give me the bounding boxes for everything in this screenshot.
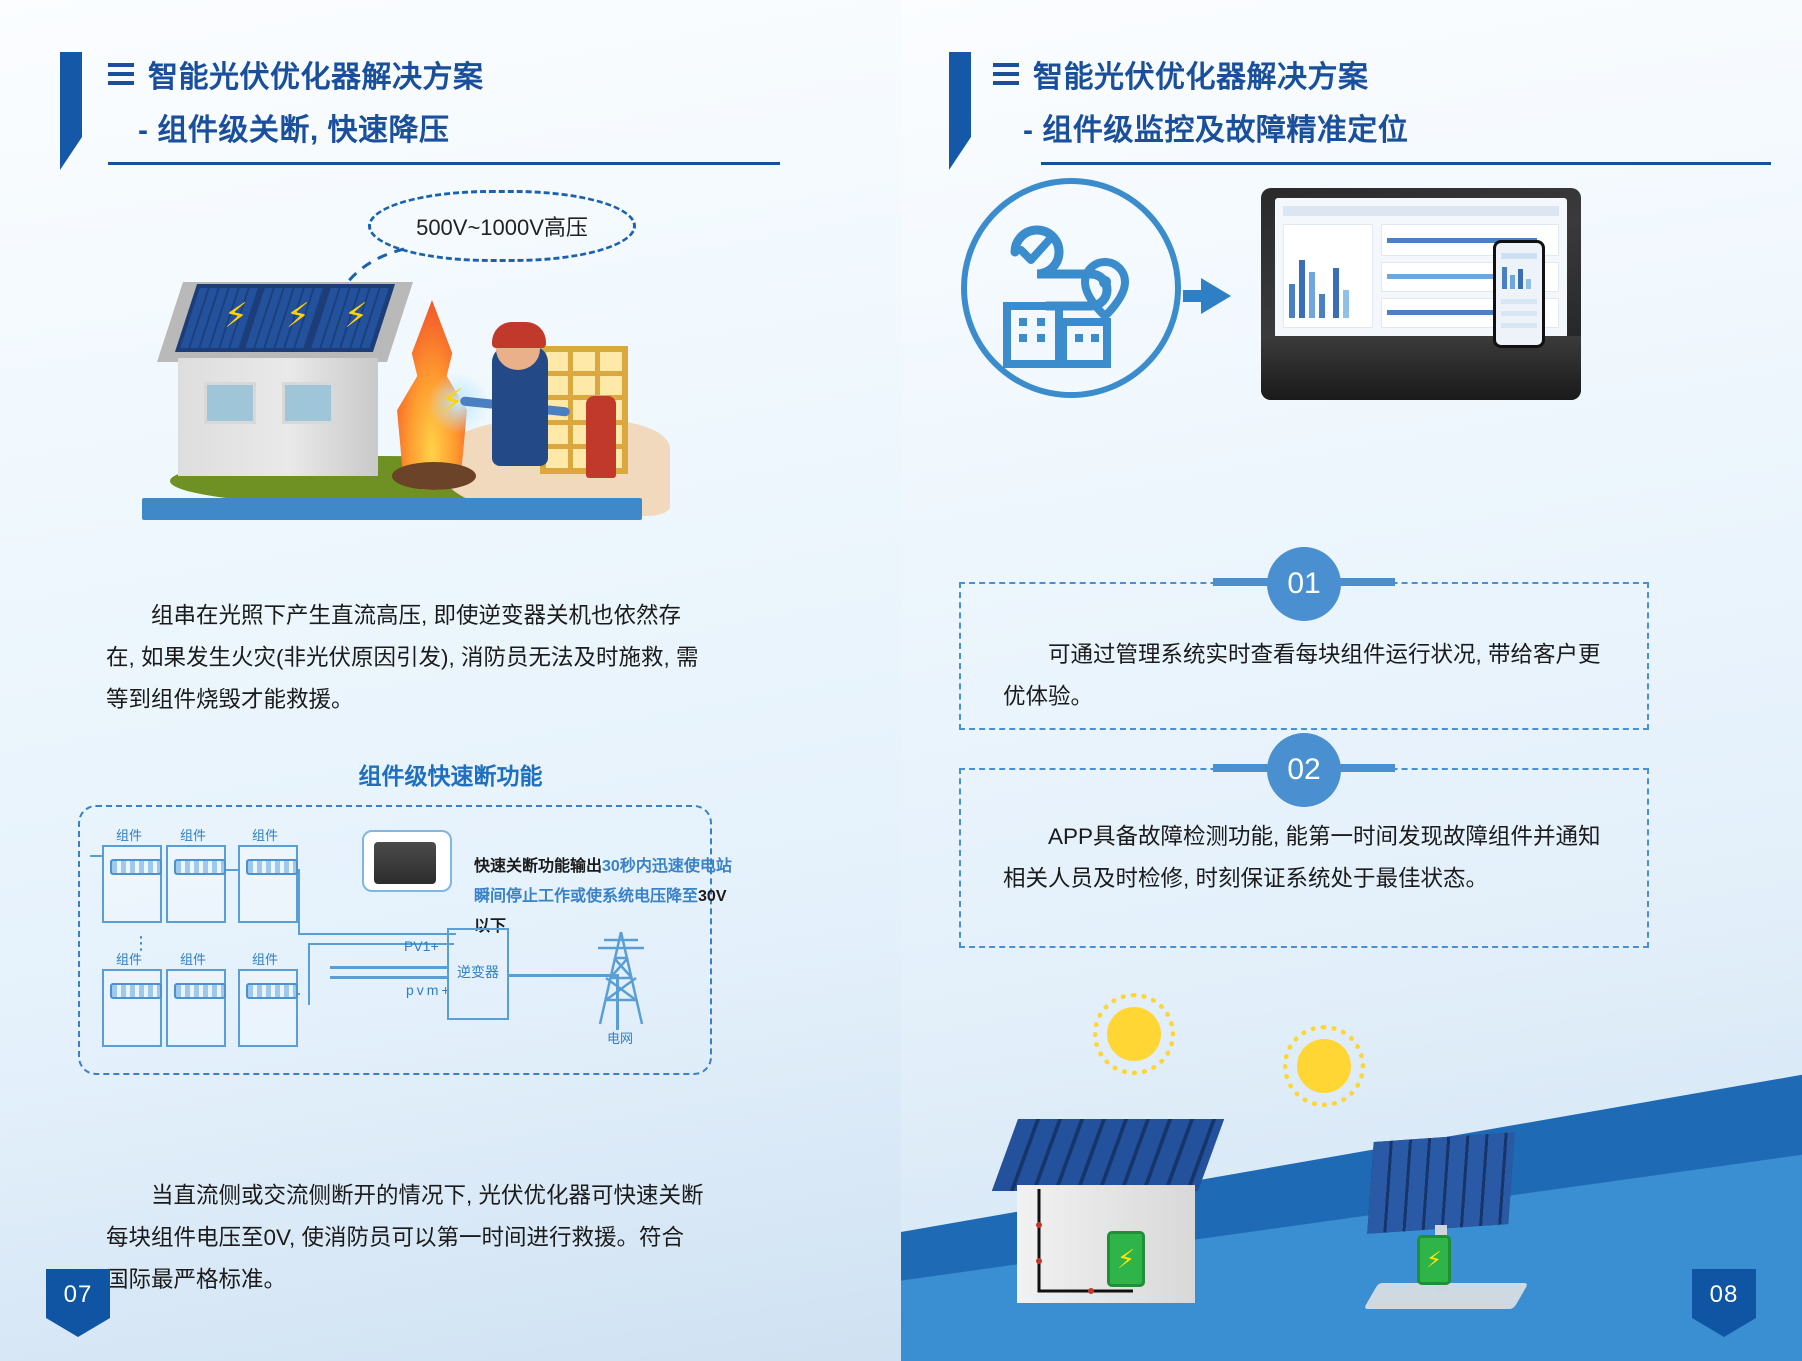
scene-house-roof-panels <box>992 1119 1224 1191</box>
fire-hydrant <box>586 396 616 478</box>
hamburger-icon <box>993 63 1019 85</box>
dc-wire-negative <box>330 976 448 979</box>
section-text: 可通过管理系统实时查看每块组件运行状况, 带给客户更优体验。 <box>1003 634 1605 718</box>
page-subtitle: - 组件级关断, 快速降压 <box>138 105 840 149</box>
scene-ground-solar-panel <box>1367 1132 1515 1234</box>
hamburger-icon <box>108 63 134 85</box>
battery-icon <box>1417 1235 1451 1285</box>
location-monitoring-icon <box>987 206 1155 370</box>
pv-module <box>238 969 298 1047</box>
sun-icon <box>1297 1039 1351 1093</box>
annotation-blue-text: 30秒内迅速使电站 <box>602 858 732 875</box>
pv-module <box>102 845 162 923</box>
dashboard-photo <box>1261 188 1581 400</box>
feature-section-02: 02 APP具备故障检测功能, 能第一时间发现故障组件并通知相关人员及时检修, … <box>959 768 1649 948</box>
bus-wire <box>298 993 300 995</box>
inverter-label: 逆变器 <box>447 962 509 982</box>
annotation-black-text: 快速关断功能输出 <box>474 858 602 875</box>
module-label: 组件 <box>116 949 142 968</box>
page-subtitle: - 组件级监控及故障精准定位 <box>1023 105 1771 149</box>
illustration-base-bar <box>142 498 642 520</box>
dirt-mound <box>392 462 476 490</box>
module-label: 组件 <box>116 825 142 844</box>
pv-module <box>102 969 162 1047</box>
pv-module <box>166 845 226 923</box>
page-title: 智能光伏优化器解决方案 <box>1033 52 1369 96</box>
bus-wire <box>298 869 300 935</box>
page-number-badge: 07 <box>46 1269 110 1337</box>
grid-label: 电网 <box>590 1028 650 1047</box>
header-rule-left <box>108 162 780 165</box>
firefighter-helmet <box>492 322 546 348</box>
module-label: 组件 <box>180 949 206 968</box>
diagram-title: 组件级快速断功能 <box>0 757 901 791</box>
annotation-line2: 瞬间停止工作或使系统电压降至 <box>474 888 698 905</box>
connector-wire <box>226 869 240 871</box>
module-label: 组件 <box>252 949 278 968</box>
dc-wire-positive <box>330 966 448 969</box>
paragraph-shutdown: 当直流侧或交流侧断开的情况下, 光伏优化器可快速关断每块组件电压至0V, 使消防… <box>106 1175 706 1301</box>
house-window <box>204 382 256 424</box>
header-right: 智能光伏优化器解决方案 - 组件级监控及故障精准定位 <box>931 52 1771 149</box>
pv-negative-label: pvm+ <box>406 982 453 998</box>
bottom-scene <box>901 961 1802 1361</box>
header-title-row-right: 智能光伏优化器解决方案 <box>993 52 1771 96</box>
pv-positive-label: PV1+ <box>404 938 439 954</box>
bus-wire <box>308 943 310 1005</box>
sun-icon <box>1107 1007 1161 1061</box>
paragraph-high-voltage: 组串在光照下产生直流高压, 即使逆变器关机也依然存在, 如果发生火灾(非光伏原因… <box>106 595 706 721</box>
shutdown-annotation: 快速关断功能输出30秒内迅速使电站 瞬间停止工作或使系统电压降至30V以下 <box>474 852 734 942</box>
header-flag-right <box>949 52 971 170</box>
section-number-badge: 01 <box>1267 547 1341 621</box>
bolt-icon: ⚡ <box>286 296 310 336</box>
page-right: 智能光伏优化器解决方案 - 组件级监控及故障精准定位 <box>901 0 1802 1361</box>
section-text: APP具备故障检测功能, 能第一时间发现故障组件并通知相关人员及时检修, 时刻保… <box>1003 816 1605 900</box>
mobile-phone <box>1493 240 1545 348</box>
module-label: 组件 <box>180 825 206 844</box>
pv-module <box>166 969 226 1047</box>
section-number-badge: 02 <box>1267 733 1341 807</box>
module-label: 组件 <box>252 825 278 844</box>
header-left: 智能光伏优化器解决方案 - 组件级关断, 快速降压 <box>60 52 840 149</box>
connector-wire <box>90 855 104 857</box>
header-flag-left <box>60 52 82 170</box>
optimizer-device-icon <box>362 830 452 892</box>
bolt-icon: ⚡ <box>224 296 248 336</box>
header-title-row-left: 智能光伏优化器解决方案 <box>108 52 840 96</box>
pv-module <box>238 845 298 923</box>
page-title: 智能光伏优化器解决方案 <box>148 52 484 96</box>
battery-icon <box>1107 1231 1145 1287</box>
brochure-spread: 智能光伏优化器解决方案 - 组件级关断, 快速降压 500V~1000V高压 ⚡… <box>0 0 1802 1361</box>
header-rule-right <box>1041 162 1771 165</box>
power-pylon-icon <box>586 930 656 1026</box>
page-left: 智能光伏优化器解决方案 - 组件级关断, 快速降压 500V~1000V高压 ⚡… <box>0 0 901 1361</box>
bolt-icon: ⚡ <box>344 296 368 336</box>
house-window <box>282 382 334 424</box>
voltage-callout-text: 500V~1000V高压 <box>416 210 588 242</box>
bus-wire <box>298 933 456 935</box>
feature-section-01: 01 可通过管理系统实时查看每块组件运行状况, 带给客户更优体验。 <box>959 582 1649 730</box>
arrow-right-icon <box>1201 278 1231 314</box>
